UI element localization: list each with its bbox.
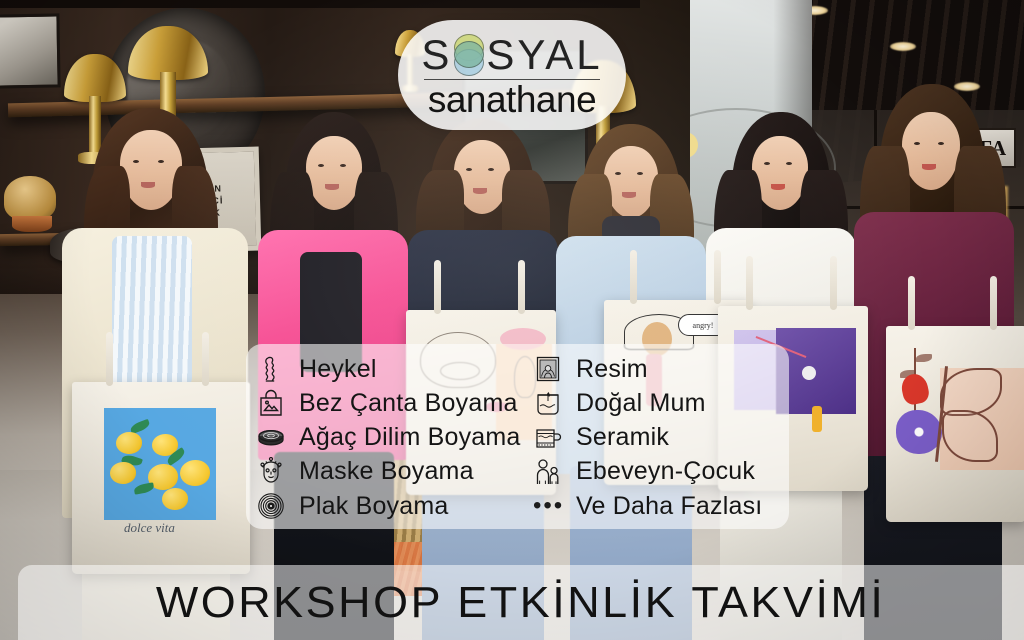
statue-icon [256,354,286,384]
workshop-item-plak-boyama[interactable]: Plak Boyama [256,489,529,523]
workshop-column-left: Heykel Bez Çanta Boyama [246,352,529,523]
workshop-item-dogal-mum[interactable]: Doğal Mum [533,386,806,420]
workshop-label: Heykel [299,355,377,384]
ellipsis-icon: ••• [533,500,563,512]
parent-child-icon [533,457,563,487]
wood-slice-icon [256,423,286,453]
vinyl-record-icon [256,491,286,521]
workshop-label: Ağaç Dilim Boyama [299,423,521,452]
workshop-item-ve-daha-fazlasi[interactable]: ••• Ve Daha Fazlası [533,489,806,523]
workshop-label: Seramik [576,423,669,452]
workshop-item-resim[interactable]: Resim [533,352,806,386]
workshop-item-heykel[interactable]: Heykel [256,352,529,386]
workshop-column-right: Resim Doğal Mum [529,352,806,523]
banner-title: WORKSHOP ETKİNLİK TAKVİMİ [156,578,886,628]
workshop-list: Heykel Bez Çanta Boyama [246,344,806,529]
workshop-label: Resim [576,355,648,384]
workshop-item-ebeveyn-cocuk[interactable]: Ebeveyn-Çocuk [533,455,806,489]
logo-divider [424,79,600,80]
carnival-mask-icon [256,457,286,487]
logo-word-pre: S [421,31,452,79]
brand-logo: S SYAL sanathane [398,20,626,130]
workshop-label: Plak Boyama [299,492,449,521]
workshop-label: Maske Boyama [299,457,474,486]
workshop-item-maske-boyama[interactable]: Maske Boyama [256,455,529,489]
framed-painting-icon [533,354,563,384]
workshop-label: Doğal Mum [576,389,706,418]
workshop-label: Bez Çanta Boyama [299,389,518,418]
bottom-banner: WORKSHOP ETKİNLİK TAKVİMİ [18,565,1024,640]
poster-image: FA .hane • • BİZ 100 BİN TAKİPÇİ [0,0,1024,640]
ceramic-mug-icon [533,423,563,453]
logo-wordmark: S SYAL [421,33,602,77]
workshop-label: Ve Daha Fazlası [576,492,762,521]
workshop-item-agac-dilim-boyama[interactable]: Ağaç Dilim Boyama [256,421,529,455]
workshop-item-seramik[interactable]: Seramik [533,421,806,455]
logo-word-mid: SYAL [486,31,602,79]
workshop-label: Ebeveyn-Çocuk [576,457,755,486]
candle-jar-icon [533,388,563,418]
three-overlapping-circles-icon [453,34,485,76]
workshop-item-bez-canta-boyama[interactable]: Bez Çanta Boyama [256,386,529,420]
tote-bag-icon [256,388,286,418]
logo-subtitle: sanathane [428,81,596,120]
